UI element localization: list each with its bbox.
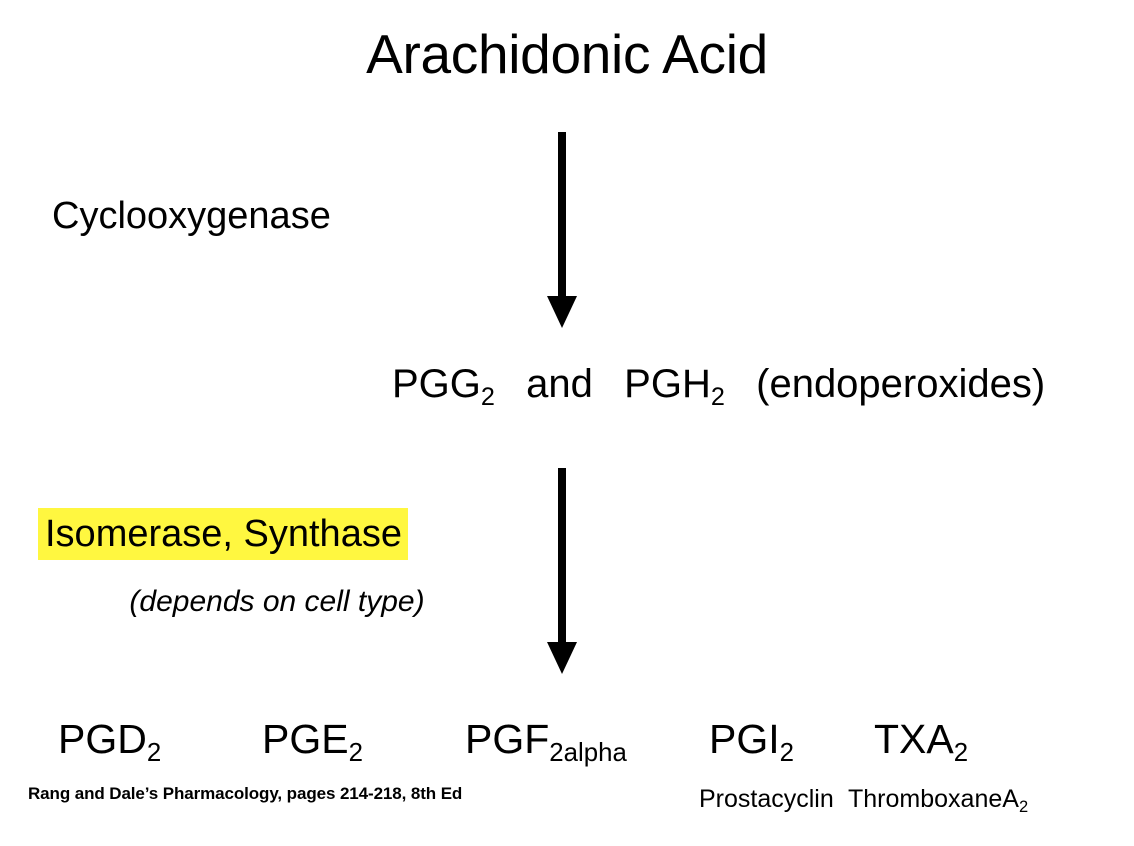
product-txa2-alias-subscript: 2 <box>1019 798 1028 816</box>
product-pgi2: PGI2 <box>709 718 794 761</box>
intermediate-pgh2-label: PGH2 <box>624 362 725 406</box>
product-txa2-alias-text: ThromboxaneA <box>848 785 1019 813</box>
product-pgd2-name: PGD <box>58 716 147 762</box>
intermediate-pgg2-label: PGG2 <box>392 362 495 406</box>
conjunction-and: and <box>526 362 593 406</box>
product-txa2: TXA2 <box>874 718 968 761</box>
product-txa2-alias: ThromboxaneA2 <box>848 786 1028 812</box>
slide-canvas: Arachidonic Acid Cyclooxygenase PGG2 and… <box>0 0 1134 846</box>
product-pgf2alpha-name: PGF <box>465 716 549 762</box>
enzyme-note-cell-type: (depends on cell type) <box>38 584 516 620</box>
product-txa2-name: TXA <box>874 716 954 762</box>
product-pgf2alpha-subscript: 2alpha <box>549 739 627 767</box>
product-pge2-subscript: 2 <box>349 739 363 767</box>
page-title: Arachidonic Acid <box>0 26 1134 84</box>
arrow-cyclooxygenase-icon <box>542 132 582 328</box>
pgh-subscript: 2 <box>711 383 725 411</box>
pgg-text: PGG <box>392 362 481 406</box>
product-pge2-name: PGE <box>262 716 349 762</box>
product-pgi2-subscript: 2 <box>780 739 794 767</box>
enzyme-label-isomerase-synthase: Isomerase, Synthase <box>38 508 408 560</box>
product-pgd2: PGD2 <box>58 718 161 761</box>
enzyme-label-isomerase-synthase-wrapper: Isomerase, Synthase <box>38 508 408 560</box>
pgh-text: PGH <box>624 362 711 406</box>
arrow-isomerase-synthase-icon <box>542 468 582 674</box>
endoperoxides-parenthetical: (endoperoxides) <box>756 362 1045 406</box>
product-pge2: PGE2 <box>262 718 363 761</box>
product-pgi2-name: PGI <box>709 716 780 762</box>
product-pgi2-alias: Prostacyclin <box>699 786 834 812</box>
product-pgf2alpha: PGF2alpha <box>465 718 627 761</box>
product-txa2-subscript: 2 <box>954 739 968 767</box>
enzyme-label-cyclooxygenase: Cyclooxygenase <box>52 196 331 238</box>
citation-source: Rang and Dale’s Pharmacology, pages 214-… <box>28 784 462 804</box>
product-pgd2-subscript: 2 <box>147 739 161 767</box>
pgg-subscript: 2 <box>481 383 495 411</box>
intermediate-endoperoxides: PGG2 and PGH2 (endoperoxides) <box>392 362 1045 406</box>
